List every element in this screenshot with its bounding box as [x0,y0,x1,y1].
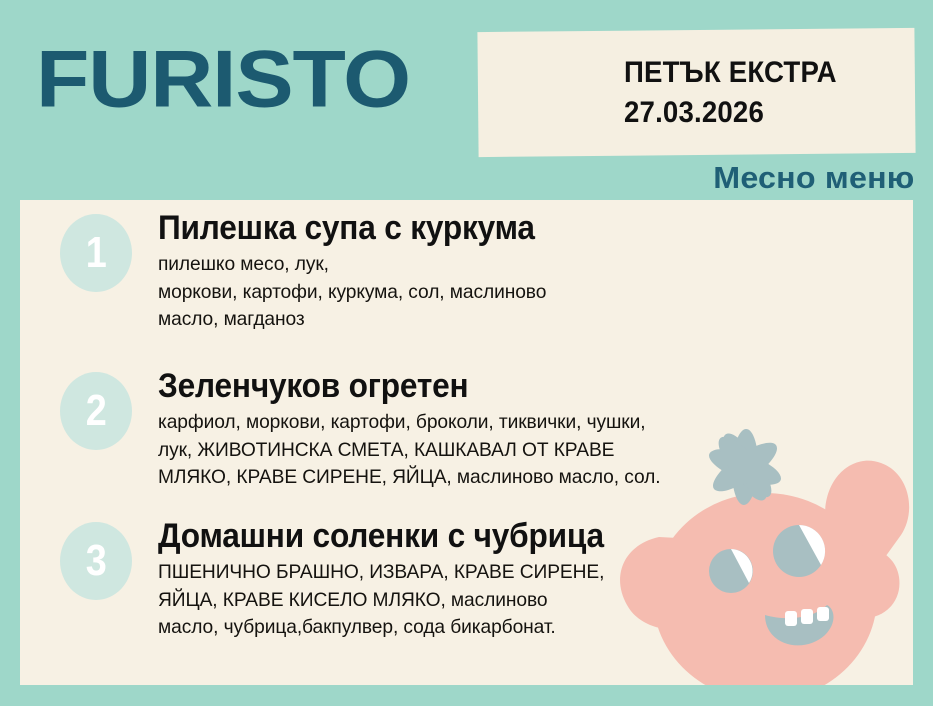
brand-logo: FURISTO [36,38,410,119]
item-number: 2 [85,389,106,433]
menu-poster: FURISTO ПЕТЪК ЕКСТРА 27.03.2026 Месно ме… [0,0,933,706]
dish-title: Домашни соленки с чубрица [158,516,860,556]
poster-header: FURISTO ПЕТЪК ЕКСТРА 27.03.2026 Месно ме… [0,0,933,200]
menu-subtitle: Месно меню [714,160,915,196]
dish-ingredients: пилешко месо, лук, моркови, картофи, кур… [158,251,902,334]
day-label: ПЕТЪК ЕКСТРА [624,53,892,93]
dish-ingredients: карфиол, моркови, картофи, броколи, тикв… [158,409,902,492]
date-label: 27.03.2026 [624,93,892,133]
date-banner: ПЕТЪК ЕКСТРА 27.03.2026 [478,30,915,155]
item-number-badge: 3 [60,522,132,600]
menu-item-body: Пилешка супа с куркума пилешко месо, лук… [158,208,913,334]
menu-item-body: Домашни соленки с чубрица ПШЕНИЧНО БРАШН… [158,516,913,642]
menu-item-body: Зеленчуков огретен карфиол, моркови, кар… [158,366,913,492]
item-number: 1 [85,231,106,275]
item-number-badge: 2 [60,372,132,450]
menu-panel: 1 Пилешка супа с куркума пилешко месо, л… [20,200,913,685]
item-number-badge: 1 [60,214,132,292]
dish-title: Зеленчуков огретен [158,366,860,406]
dish-ingredients: ПШЕНИЧНО БРАШНО, ИЗВАРА, КРАВЕ СИРЕНЕ, Я… [158,559,902,642]
item-number: 3 [85,539,106,583]
dish-title: Пилешка супа с куркума [158,208,860,248]
